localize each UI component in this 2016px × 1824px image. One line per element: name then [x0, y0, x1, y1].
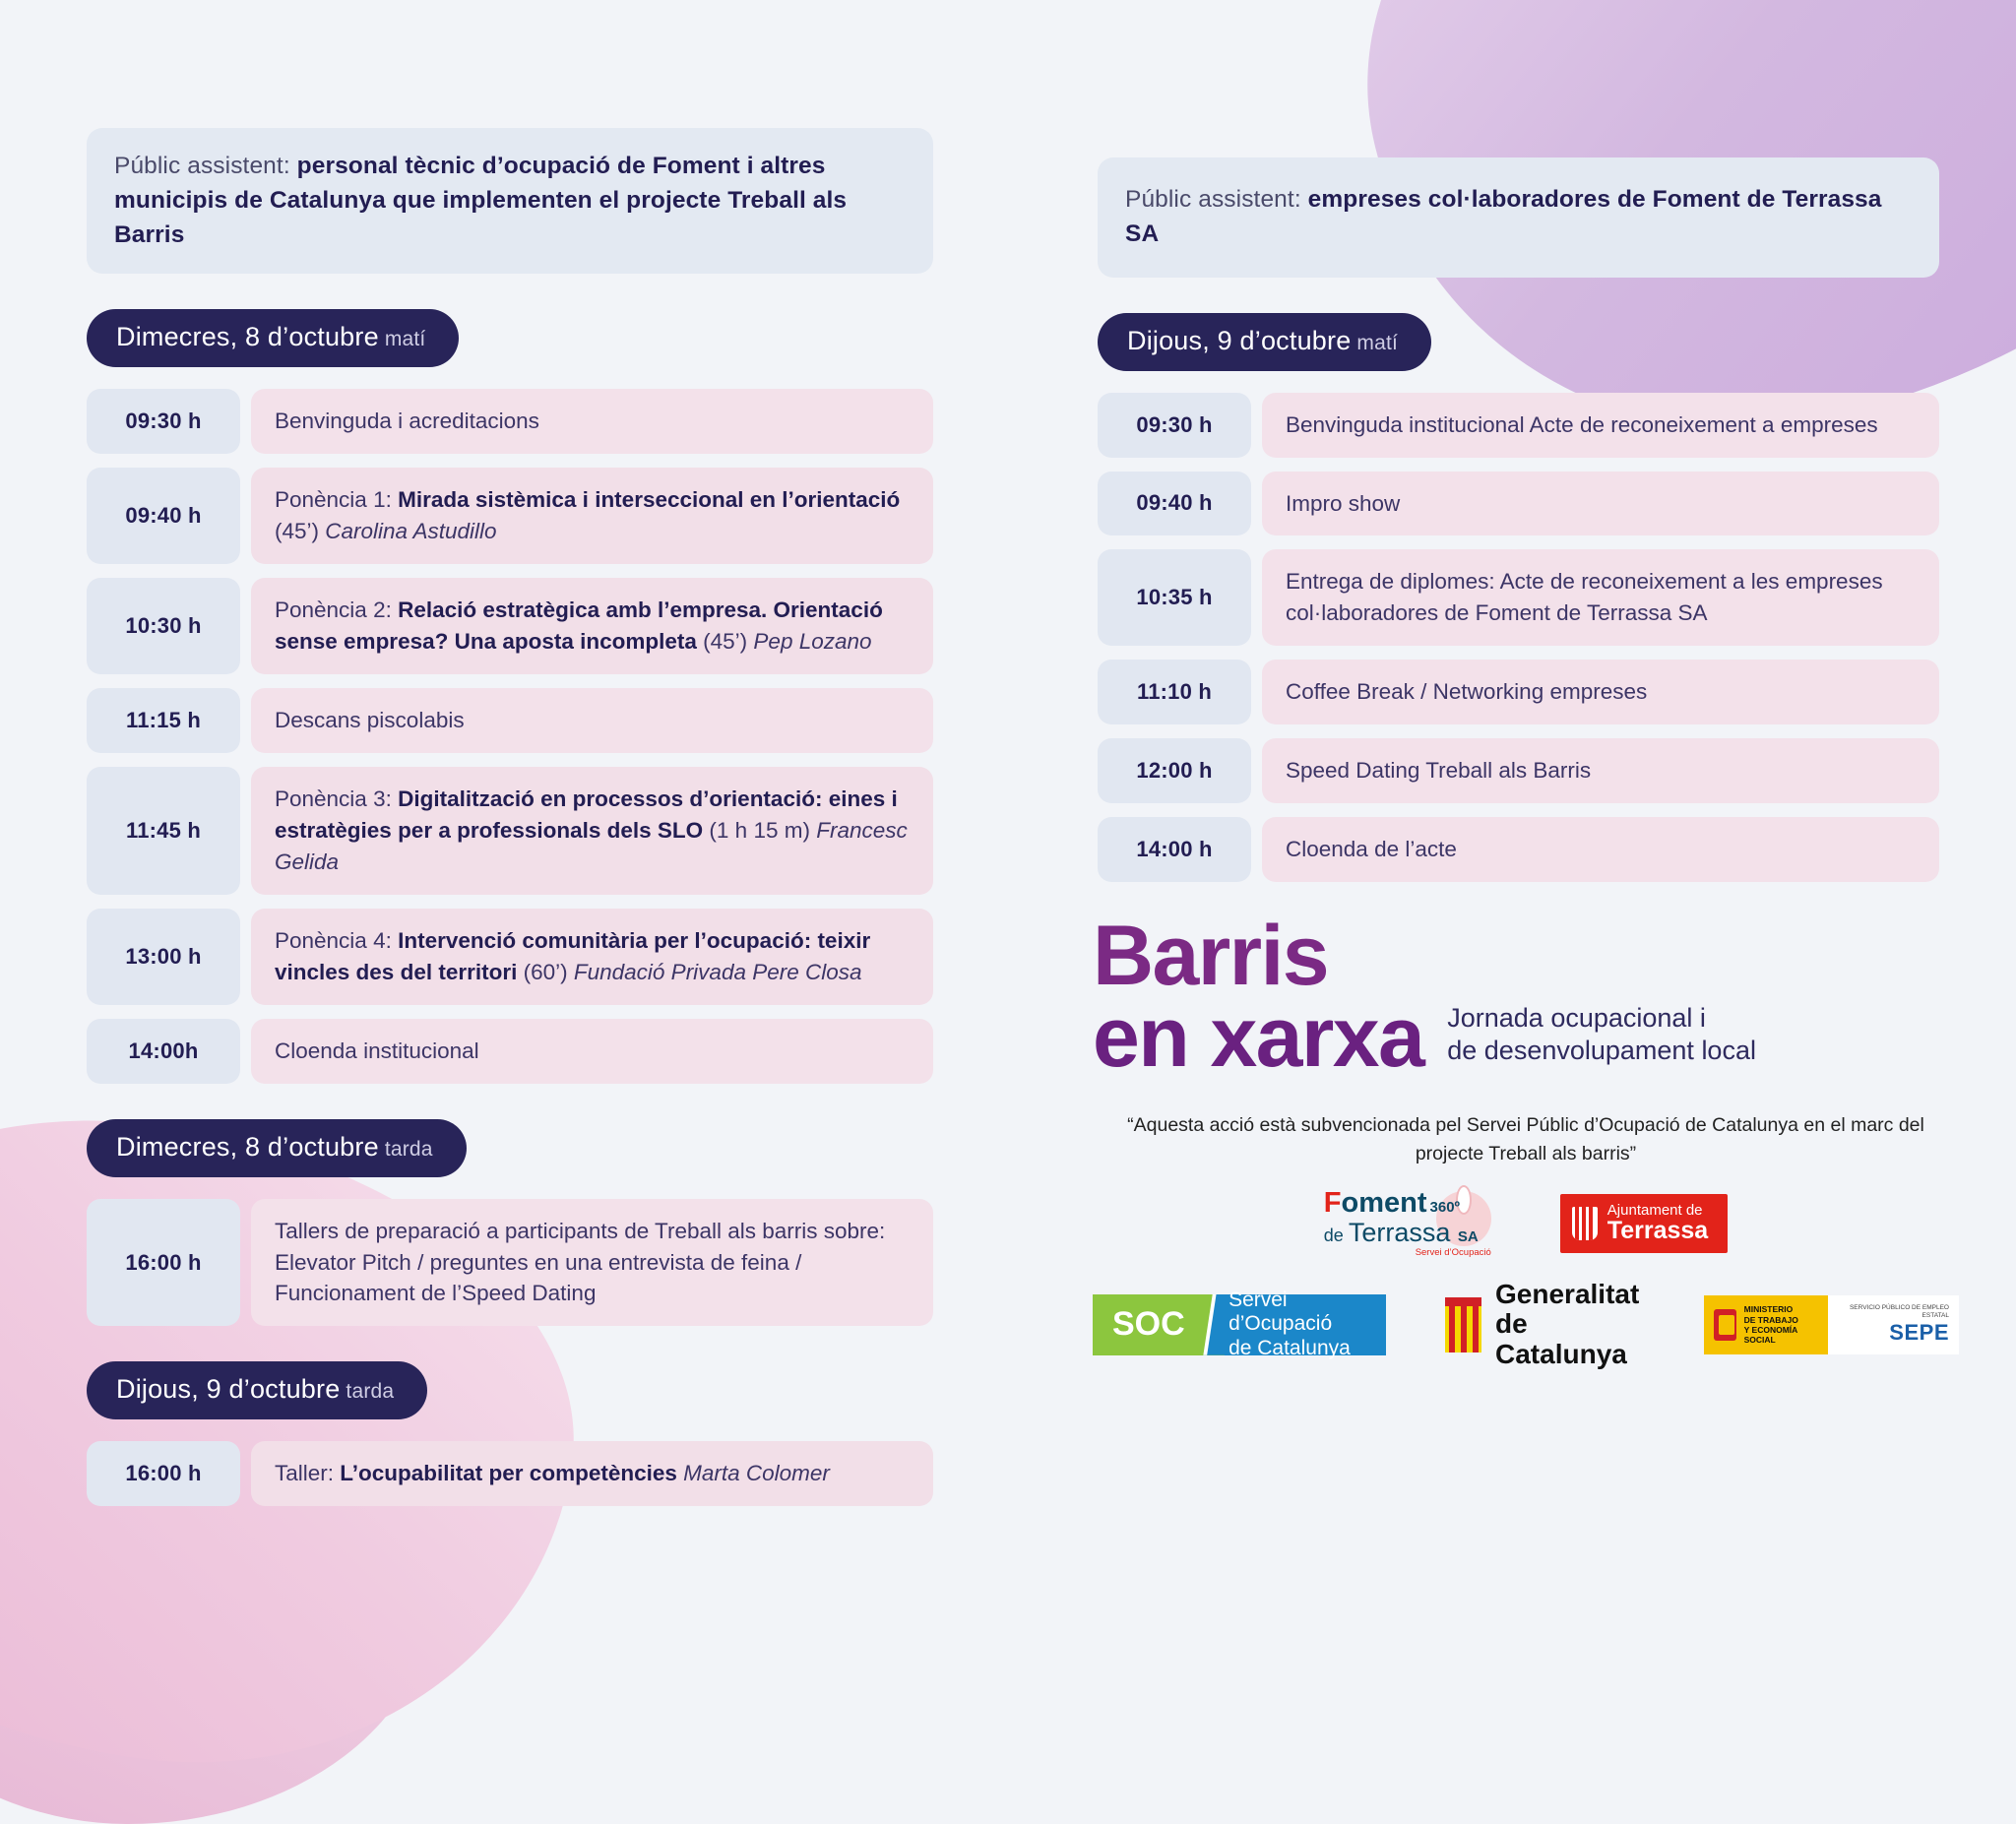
- brand-subtitle: Jornada ocupacional i de desenvolupament…: [1447, 1002, 1756, 1079]
- foment-word: oment: [1342, 1187, 1427, 1219]
- table-row: 09:30 h Benvinguda i acreditacions: [87, 389, 933, 454]
- row-time: 12:00 h: [1098, 738, 1251, 803]
- row-time: 10:35 h: [1098, 549, 1251, 646]
- brand-block: Barris en xarxa Jornada ocupacional i de…: [1093, 915, 1959, 1370]
- row-text: Descans piscolabis: [275, 705, 465, 736]
- row-description: Ponència 4: Intervenció comunitària per …: [251, 909, 933, 1005]
- row-text: Cloenda de l’acte: [1286, 834, 1457, 865]
- row-time: 10:30 h: [87, 578, 240, 674]
- day-label: Dimecres, 8 d’octubre: [116, 1132, 379, 1162]
- row-time: 14:00 h: [1098, 817, 1251, 882]
- logo-row-primary: Foment360º de Terrassa SA Servei d’Ocupa…: [1093, 1189, 1959, 1258]
- left-column: Públic assistent: personal tècnic d’ocup…: [87, 128, 933, 1506]
- brand-subtitle-line1: Jornada ocupacional i: [1447, 1002, 1756, 1036]
- schedule-rows-dijous-tarda: 16:00 h Taller: L’ocupabilitat per compe…: [87, 1441, 933, 1506]
- table-row: 10:35 h Entrega de diplomes: Acte de rec…: [1098, 549, 1939, 646]
- schedule-section-dimecres-tarda: Dimecres, 8 d’octubretarda 16:00 h Talle…: [87, 1084, 933, 1327]
- foment-tagline: Servei d’Ocupació: [1324, 1247, 1491, 1258]
- table-row: 09:40 h Ponència 1: Mirada sistèmica i i…: [87, 468, 933, 564]
- row-time: 09:40 h: [1098, 472, 1251, 536]
- row-bold: L’ocupabilitat per competències: [340, 1461, 677, 1485]
- row-text: Entrega de diplomes: Acte de reconeixeme…: [1286, 566, 1916, 629]
- row-text: Cloenda institucional: [275, 1036, 479, 1067]
- foment-360: 360º: [1430, 1199, 1461, 1216]
- right-column: Públic assistent: empreses col·laborador…: [1098, 157, 1939, 882]
- soc-line1: Servei d’Ocupació: [1228, 1289, 1362, 1338]
- row-description: Benvinguda institucional Acte de reconei…: [1262, 393, 1939, 458]
- table-row: 16:00 h Taller: L’ocupabilitat per compe…: [87, 1441, 933, 1506]
- foment-de-terrassa-logo: Foment360º de Terrassa SA Servei d’Ocupa…: [1324, 1189, 1491, 1258]
- row-speaker: Marta Colomer: [683, 1461, 830, 1485]
- row-duration: (1 h 15 m): [703, 818, 816, 843]
- row-time: 11:10 h: [1098, 660, 1251, 724]
- row-description: Impro show: [1262, 472, 1939, 536]
- soc-logo: SOC Servei d’Ocupació de Catalunya: [1093, 1294, 1386, 1355]
- row-time: 16:00 h: [87, 1441, 240, 1506]
- soc-line2: de Catalunya: [1228, 1337, 1362, 1361]
- day-pill-dimecres-mati: Dimecres, 8 d’octubrematí: [87, 309, 459, 367]
- table-row: 11:15 h Descans piscolabis: [87, 688, 933, 753]
- brand-title: Barris en xarxa: [1093, 915, 1423, 1078]
- audience-banner-right: Públic assistent: empreses col·laborador…: [1098, 157, 1939, 278]
- table-row: 11:10 h Coffee Break / Networking empres…: [1098, 660, 1939, 724]
- sepe-acronym: SEPE: [1889, 1320, 1949, 1346]
- table-row: 14:00 h Cloenda de l’acte: [1098, 817, 1939, 882]
- schedule-rows-dimecres-mati: 09:30 h Benvinguda i acreditacions 09:40…: [87, 389, 933, 1083]
- row-speaker: Carolina Astudillo: [325, 519, 496, 543]
- foment-sa: SA: [1458, 1228, 1479, 1245]
- table-row: 12:00 h Speed Dating Treball als Barris: [1098, 738, 1939, 803]
- row-time: 16:00 h: [87, 1199, 240, 1327]
- foment-line1: Foment360º: [1324, 1189, 1491, 1218]
- row-description: Ponència 2: Relació estratègica amb l’em…: [251, 578, 933, 674]
- row-description: Ponència 1: Mirada sistèmica i intersecc…: [251, 468, 933, 564]
- row-description: Entrega de diplomes: Acte de reconeixeme…: [1262, 549, 1939, 646]
- brand-title-row: Barris en xarxa Jornada ocupacional i de…: [1093, 915, 1959, 1078]
- row-time: 09:40 h: [87, 468, 240, 564]
- row-description: Cloenda institucional: [251, 1019, 933, 1084]
- poster-page: Públic assistent: personal tècnic d’ocup…: [0, 0, 2016, 1430]
- row-bold: Mirada sistèmica i interseccional en l’o…: [398, 487, 900, 512]
- spain-crest-icon: [1714, 1309, 1735, 1341]
- day-pill-dijous-mati: Dijous, 9 d’octubrematí: [1098, 313, 1431, 371]
- day-part-label: matí: [385, 328, 426, 350]
- foment-letter-f: F: [1324, 1187, 1342, 1219]
- day-pill-dimecres-tarda: Dimecres, 8 d’octubretarda: [87, 1119, 467, 1177]
- day-label: Dijous, 9 d’octubre: [116, 1374, 340, 1404]
- soc-acronym: SOC: [1093, 1294, 1203, 1355]
- schedule-section-dimecres-mati: Dimecres, 8 d’octubrematí 09:30 h Benvin…: [87, 274, 933, 1083]
- generalitat-line2: de Catalunya: [1495, 1309, 1645, 1370]
- row-text: Coffee Break / Networking empreses: [1286, 676, 1647, 708]
- row-speaker: Fundació Privada Pere Closa: [574, 960, 862, 984]
- schedule-rows-dimecres-tarda: 16:00 h Tallers de preparació a particip…: [87, 1199, 933, 1327]
- row-prefix: Taller:: [275, 1461, 340, 1485]
- schedule-section-dijous-mati: Dijous, 9 d’octubrematí 09:30 h Benvingu…: [1098, 278, 1939, 883]
- table-row: 13:00 h Ponència 4: Intervenció comunità…: [87, 909, 933, 1005]
- row-prefix: Ponència 4:: [275, 928, 398, 953]
- table-row: 09:30 h Benvinguda institucional Acte de…: [1098, 393, 1939, 458]
- generalitat-text: Generalitat de Catalunya: [1495, 1280, 1645, 1370]
- brand-title-line1: Barris: [1093, 909, 1328, 1003]
- sepe-subtitle: SERVICIO PÚBLICO DE EMPLEO ESTATAL: [1838, 1304, 1949, 1320]
- ajuntament-de-terrassa-logo: Ajuntament de Terrassa: [1560, 1194, 1728, 1253]
- subvention-note: “Aquesta acció està subvencionada pel Se…: [1093, 1111, 1959, 1169]
- day-part-label: tarda: [346, 1380, 394, 1403]
- row-text: Speed Dating Treball als Barris: [1286, 755, 1591, 786]
- row-time: 11:45 h: [87, 767, 240, 895]
- sepe-block: SERVICIO PÚBLICO DE EMPLEO ESTATAL SEPE: [1828, 1295, 1959, 1354]
- row-description: Taller: L’ocupabilitat per competències …: [251, 1441, 933, 1506]
- row-description: Speed Dating Treball als Barris: [1262, 738, 1939, 803]
- row-prefix: Ponència 3:: [275, 786, 398, 811]
- table-row: 14:00h Cloenda institucional: [87, 1019, 933, 1084]
- row-time: 11:15 h: [87, 688, 240, 753]
- row-description: Ponència 3: Digitalització en processos …: [251, 767, 933, 895]
- row-prefix: Ponència 2:: [275, 598, 398, 622]
- brand-subtitle-line2: de desenvolupament local: [1447, 1035, 1756, 1068]
- ministerio-line2: DE TRABAJO: [1744, 1315, 1819, 1325]
- soc-slash-icon: [1203, 1294, 1225, 1355]
- foment-de: de: [1324, 1226, 1349, 1245]
- row-duration: (60’): [517, 960, 574, 984]
- table-row: 09:40 h Impro show: [1098, 472, 1939, 536]
- row-speaker: Pep Lozano: [753, 629, 871, 654]
- day-label: Dijous, 9 d’octubre: [1127, 326, 1351, 355]
- table-row: 11:45 h Ponència 3: Digitalització en pr…: [87, 767, 933, 895]
- row-duration: (45’): [275, 519, 325, 543]
- audience-banner-left: Públic assistent: personal tècnic d’ocup…: [87, 128, 933, 274]
- generalitat-line1: Generalitat: [1495, 1280, 1645, 1310]
- row-text: Benvinguda institucional Acte de reconei…: [1286, 409, 1878, 441]
- row-description: Benvinguda i acreditacions: [251, 389, 933, 454]
- row-text: Tallers de preparació a participants de …: [275, 1216, 910, 1310]
- row-prefix: Ponència 1:: [275, 487, 398, 512]
- schedule-rows-dijous-mati: 09:30 h Benvinguda institucional Acte de…: [1098, 393, 1939, 883]
- ministerio-line1: MINISTERIO: [1744, 1304, 1819, 1314]
- ministerio-text: MINISTERIO DE TRABAJO Y ECONOMÍA SOCIAL: [1744, 1304, 1819, 1345]
- table-row: 10:30 h Ponència 2: Relació estratègica …: [87, 578, 933, 674]
- foment-line2: de Terrassa SA: [1324, 1219, 1491, 1246]
- day-part-label: matí: [1356, 332, 1398, 354]
- foment-terrassa: Terrassa: [1349, 1218, 1451, 1247]
- brand-title-line2: en xarxa: [1093, 997, 1423, 1079]
- soc-text: Servei d’Ocupació de Catalunya: [1225, 1294, 1386, 1355]
- row-text: Impro show: [1286, 488, 1400, 520]
- ministerio-block: MINISTERIO DE TRABAJO Y ECONOMÍA SOCIAL: [1704, 1295, 1828, 1354]
- ministerio-line3: Y ECONOMÍA SOCIAL: [1744, 1325, 1819, 1345]
- row-time: 14:00h: [87, 1019, 240, 1084]
- logo-row-secondary: SOC Servei d’Ocupació de Catalunya Gener…: [1093, 1280, 1959, 1370]
- row-duration: (45’): [697, 629, 754, 654]
- row-description: Descans piscolabis: [251, 688, 933, 753]
- row-time: 09:30 h: [1098, 393, 1251, 458]
- day-part-label: tarda: [385, 1138, 433, 1161]
- audience-lead-right: Públic assistent:: [1125, 186, 1301, 213]
- generalitat-senyera-icon: [1445, 1297, 1481, 1352]
- day-pill-dijous-tarda: Dijous, 9 d’octubretarda: [87, 1361, 427, 1419]
- ajuntament-line2: Terrassa: [1607, 1218, 1708, 1243]
- row-description: Tallers de preparació a participants de …: [251, 1199, 933, 1327]
- table-row: 16:00 h Tallers de preparació a particip…: [87, 1199, 933, 1327]
- ajuntament-text: Ajuntament de Terrassa: [1607, 1203, 1708, 1244]
- row-text: Benvinguda i acreditacions: [275, 406, 539, 437]
- row-time: 13:00 h: [87, 909, 240, 1005]
- ajuntament-line1: Ajuntament de: [1607, 1203, 1708, 1219]
- day-label: Dimecres, 8 d’octubre: [116, 322, 379, 351]
- ajuntament-shield-icon: [1572, 1207, 1598, 1240]
- audience-lead-left: Públic assistent:: [114, 153, 290, 179]
- schedule-section-dijous-tarda: Dijous, 9 d’octubretarda 16:00 h Taller:…: [87, 1326, 933, 1506]
- ministerio-sepe-logo: MINISTERIO DE TRABAJO Y ECONOMÍA SOCIAL …: [1704, 1295, 1959, 1354]
- generalitat-logo: Generalitat de Catalunya: [1445, 1280, 1645, 1370]
- row-description: Cloenda de l’acte: [1262, 817, 1939, 882]
- row-description: Coffee Break / Networking empreses: [1262, 660, 1939, 724]
- row-time: 09:30 h: [87, 389, 240, 454]
